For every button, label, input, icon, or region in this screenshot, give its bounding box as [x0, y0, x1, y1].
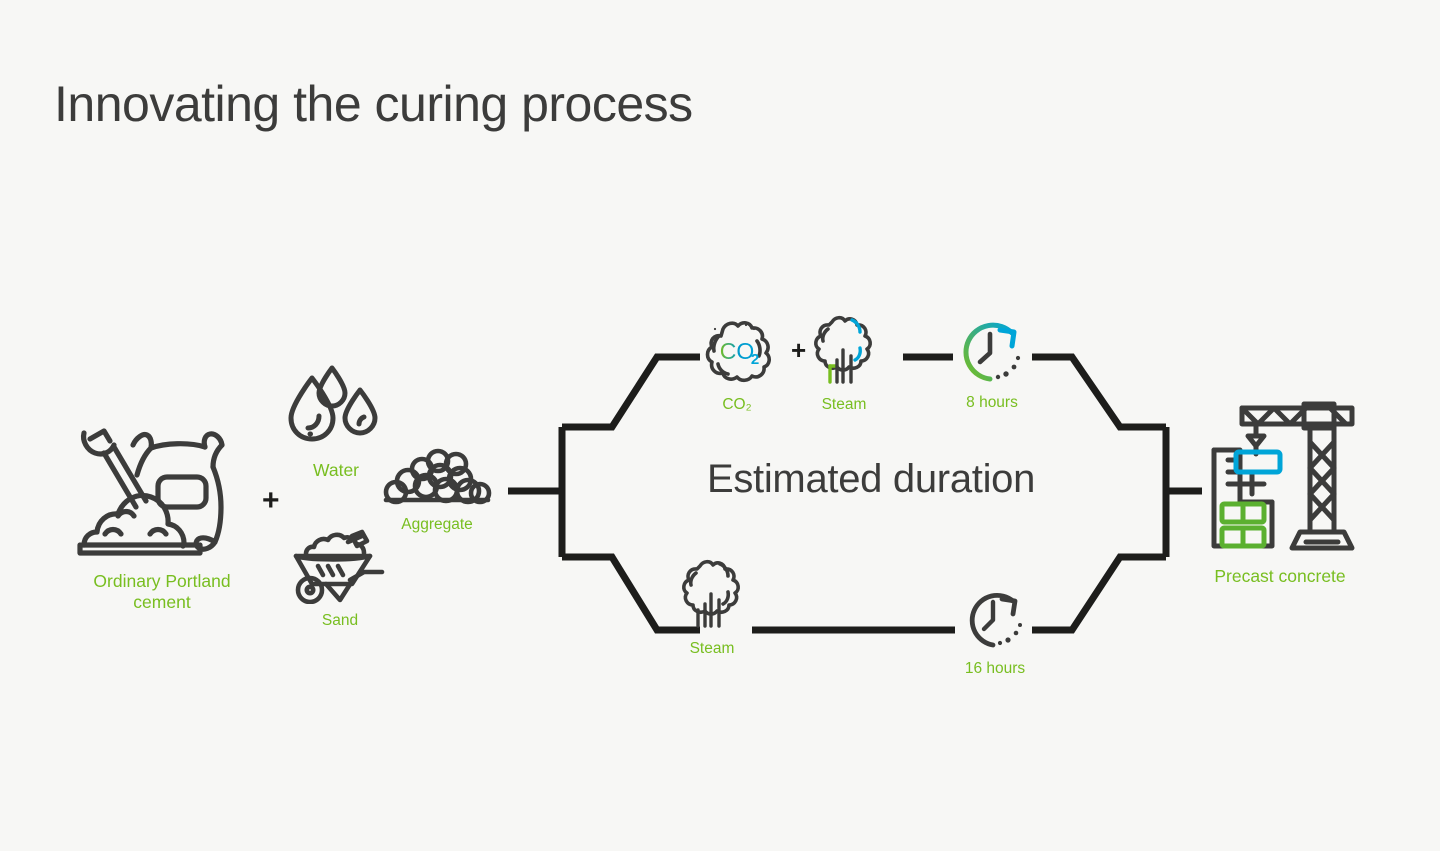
branch-label-duration-16h: 16 hours	[965, 660, 1025, 678]
steam-cloud-icon	[808, 312, 880, 393]
output-node-precast-concrete: Precast concrete	[1199, 398, 1361, 587]
input-node-water: Water	[286, 364, 386, 481]
branch-node-steam-bottom: Steam	[676, 556, 748, 658]
branch-label-duration-8h: 8 hours	[966, 394, 1018, 412]
input-label-cement: Ordinary Portland cement	[93, 571, 230, 612]
svg-text:CO: CO	[720, 338, 755, 364]
input-node-aggregate: Aggregate	[378, 448, 496, 534]
branch-label-co2: CO₂	[722, 396, 751, 414]
co2-cloud-icon: CO 2	[698, 316, 776, 393]
wheelbarrow-sand-icon	[290, 528, 390, 609]
input-node-cement: Ordinary Portland cement	[62, 415, 262, 612]
steam-cloud-icon	[676, 556, 748, 637]
input-node-sand: Sand	[288, 528, 392, 630]
svg-text:2: 2	[751, 351, 759, 368]
branch-node-duration-8h: 8 hours	[953, 316, 1031, 412]
aggregate-rocks-icon	[382, 448, 492, 513]
input-label-sand: Sand	[322, 612, 358, 630]
cement-bag-shovel-icon	[72, 415, 252, 568]
crane-building-icon	[1200, 398, 1360, 563]
hub-lower-right-branch	[1032, 557, 1166, 630]
page-title: Innovating the curing process	[54, 78, 693, 131]
branch-node-duration-16h: 16 hours	[956, 586, 1034, 678]
plus-operator-inputs: +	[262, 486, 280, 516]
water-droplets-icon	[288, 364, 384, 457]
diagram-canvas: Innovating the curing process	[0, 0, 1440, 851]
input-label-water: Water	[313, 460, 359, 481]
branch-label-steam-bottom: Steam	[690, 640, 735, 658]
branch-node-co2: CO 2 CO₂	[697, 316, 777, 414]
clock-arrow-icon	[957, 586, 1033, 657]
hub-label: Estimated duration	[676, 457, 1066, 502]
input-label-aggregate: Aggregate	[401, 516, 473, 534]
branch-label-steam-top: Steam	[822, 396, 867, 414]
clock-arrow-icon	[954, 316, 1030, 391]
plus-operator-top-branch: +	[791, 337, 806, 363]
hub-upper-right-branch	[1032, 357, 1166, 427]
output-label-precast-concrete: Precast concrete	[1214, 566, 1345, 587]
hub-upper-left-branch	[562, 357, 700, 427]
branch-node-steam-top: Steam	[808, 312, 880, 414]
